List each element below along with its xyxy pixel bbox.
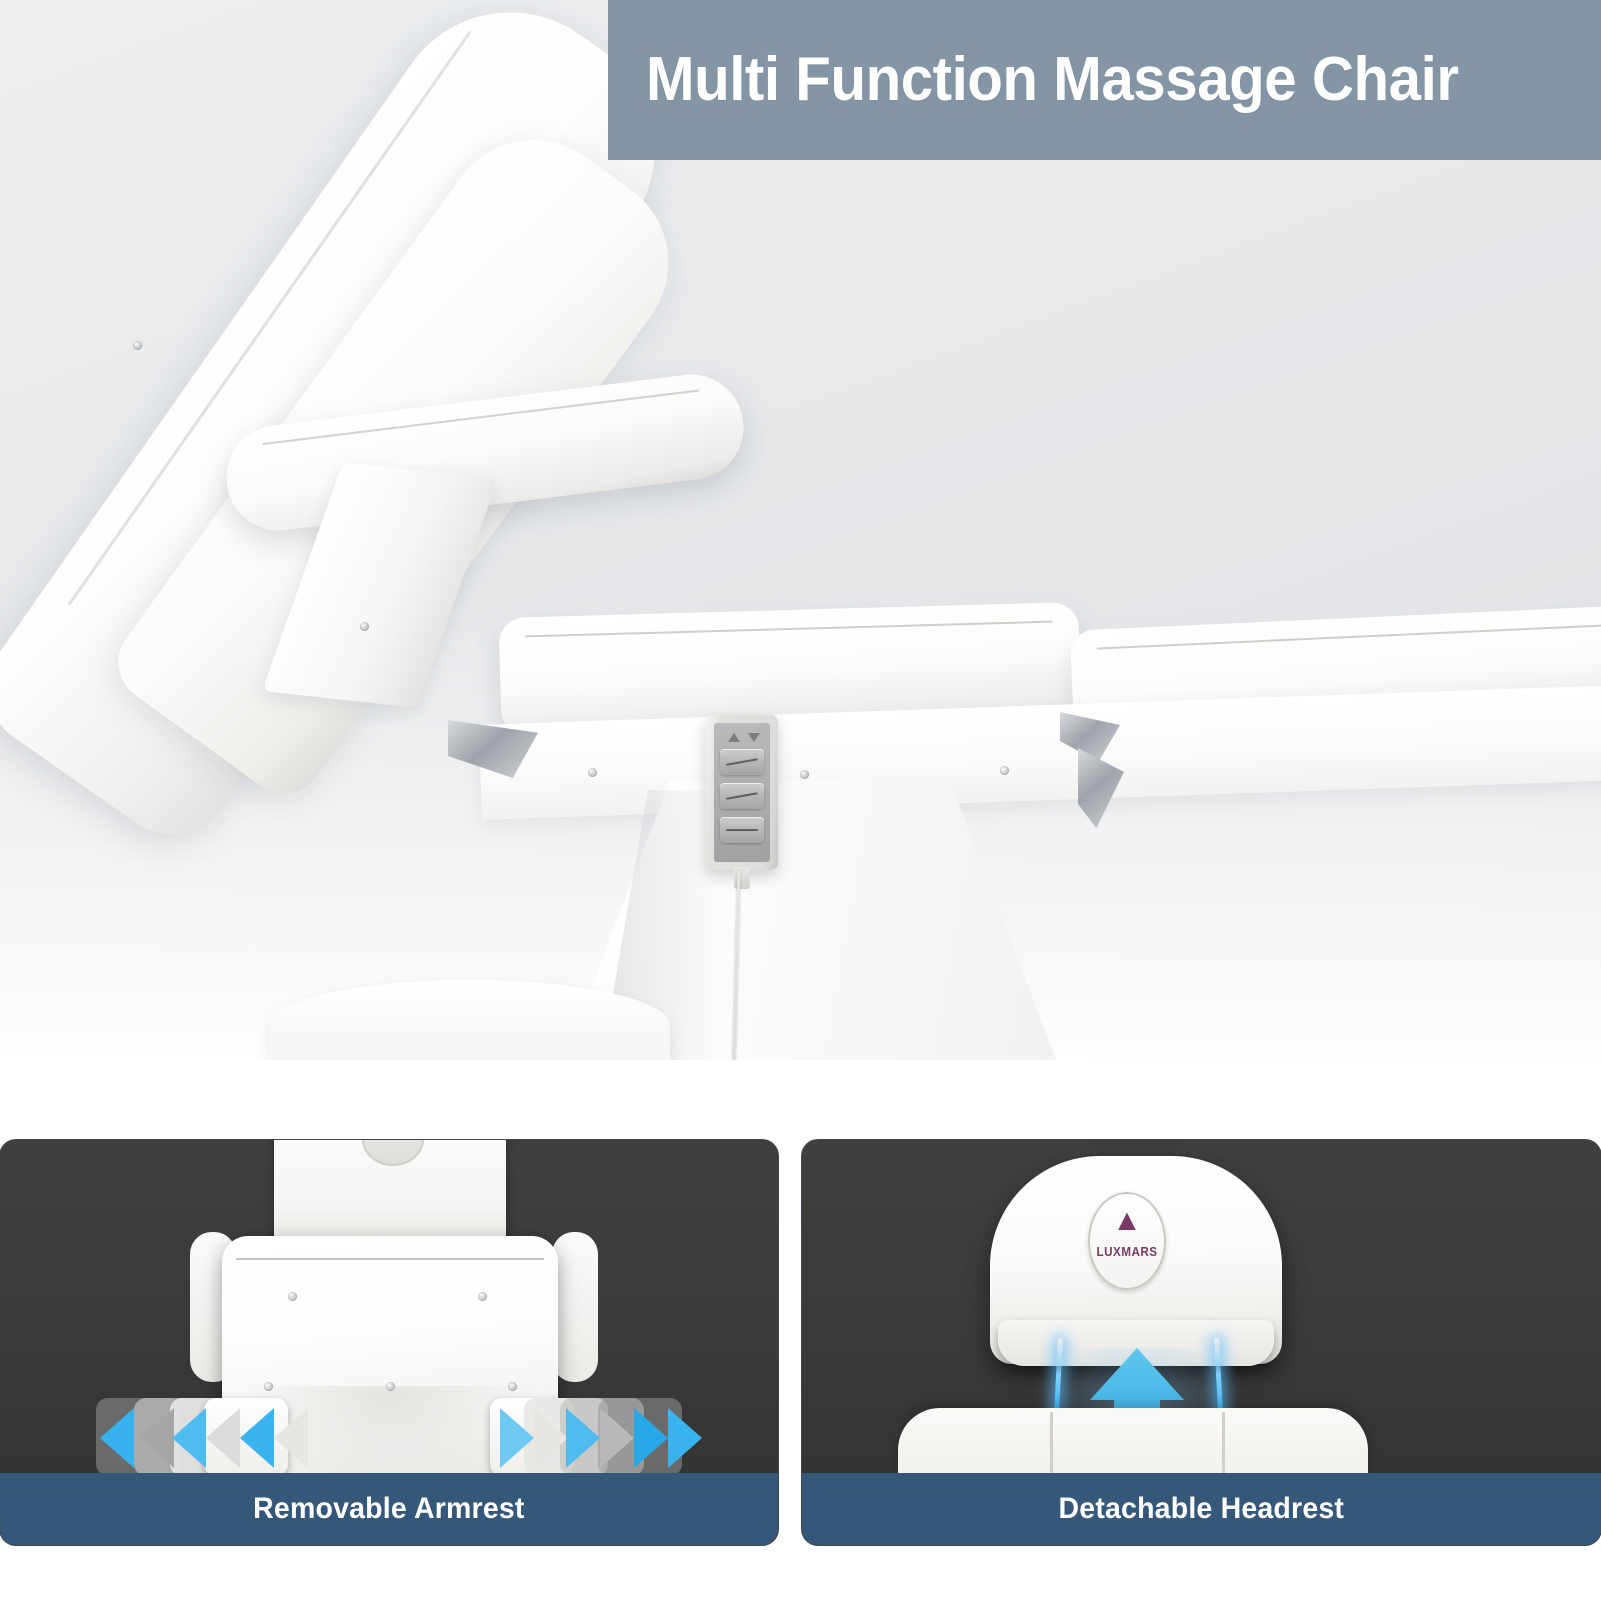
chairback-screw-ml [264, 1382, 273, 1391]
chevron-left-icon-2 [140, 1408, 174, 1468]
chevron-left-icon-5 [240, 1408, 274, 1468]
panel-detachable-headrest: ▲ LUXMARS [802, 1140, 1601, 1545]
remote-button-3-mark [726, 829, 758, 831]
panel-detachable-headrest-label: Detachable Headrest [1059, 1492, 1345, 1526]
armrest-screw [360, 622, 369, 631]
backrest-screw [133, 341, 142, 350]
chairback-screw-tl [288, 1292, 297, 1301]
chevron-right-icon-1 [500, 1408, 534, 1468]
remote-button-height[interactable] [720, 817, 764, 843]
chevron-left-icon-6 [274, 1408, 308, 1468]
chairback-headrest-rear [274, 1140, 506, 1246]
remote-faceplate [714, 723, 770, 862]
chairback-screw-mc [386, 1382, 395, 1391]
panel-removable-armrest-label: Removable Armrest [253, 1492, 524, 1526]
chevron-left-icon-4 [206, 1408, 240, 1468]
chair-seatback-top [898, 1408, 1368, 1473]
chevron-right-icon-2 [534, 1408, 568, 1468]
seatback-split-right [1222, 1412, 1225, 1473]
remote-button-backrest[interactable] [720, 749, 764, 775]
remote-button-2-mark [726, 792, 758, 800]
product-infographic: Multi Function Massage Chair [0, 0, 1601, 1601]
panel-detachable-headrest-caption: Detachable Headrest [802, 1473, 1601, 1545]
remote-button-legrest[interactable] [720, 783, 764, 809]
title-banner: Multi Function Massage Chair [608, 0, 1601, 160]
remote-control[interactable] [706, 715, 778, 870]
apron-screw-2 [800, 770, 809, 779]
chevron-right-icon-5 [634, 1408, 668, 1468]
chevron-left-icon-3 [172, 1408, 206, 1468]
seatback-split-left [1050, 1412, 1053, 1473]
apron-screw-3 [1000, 766, 1009, 775]
chairback-screw-tr [478, 1292, 487, 1301]
feature-panels: Removable Armrest ▲ LUXMARS [0, 1140, 1601, 1545]
chairback-side-right [552, 1232, 598, 1382]
apron-screw-1 [588, 768, 597, 777]
triangle-up-icon [728, 733, 740, 742]
panel-detachable-headrest-photo: ▲ LUXMARS [802, 1140, 1601, 1473]
horse-head-icon: ▲ [1112, 1206, 1142, 1236]
chairback-screw-mr [508, 1382, 517, 1391]
panel-removable-armrest-caption: Removable Armrest [0, 1473, 778, 1545]
seat-stitch-line [525, 621, 1053, 638]
triangle-down-icon [748, 733, 760, 742]
headrest-badge-rear [362, 1140, 424, 1166]
brand-logo-text: LUXMARS [1092, 1244, 1162, 1259]
chair-base-foot [270, 980, 670, 1060]
chevron-right-icon-6 [668, 1408, 702, 1468]
chairback-stitch-line [236, 1258, 544, 1260]
headrest-logo-badge: ▲ LUXMARS [1088, 1192, 1166, 1290]
chevron-right-icon-3 [566, 1408, 600, 1468]
chevron-left-icon-1 [100, 1408, 134, 1468]
legrest-stitch-line [1097, 625, 1601, 650]
panel-removable-armrest: Removable Armrest [0, 1140, 778, 1545]
page-title: Multi Function Massage Chair [646, 30, 1538, 130]
remote-button-1-mark [726, 758, 758, 766]
chevron-right-icon-4 [600, 1408, 634, 1468]
panel-removable-armrest-photo [0, 1140, 778, 1473]
